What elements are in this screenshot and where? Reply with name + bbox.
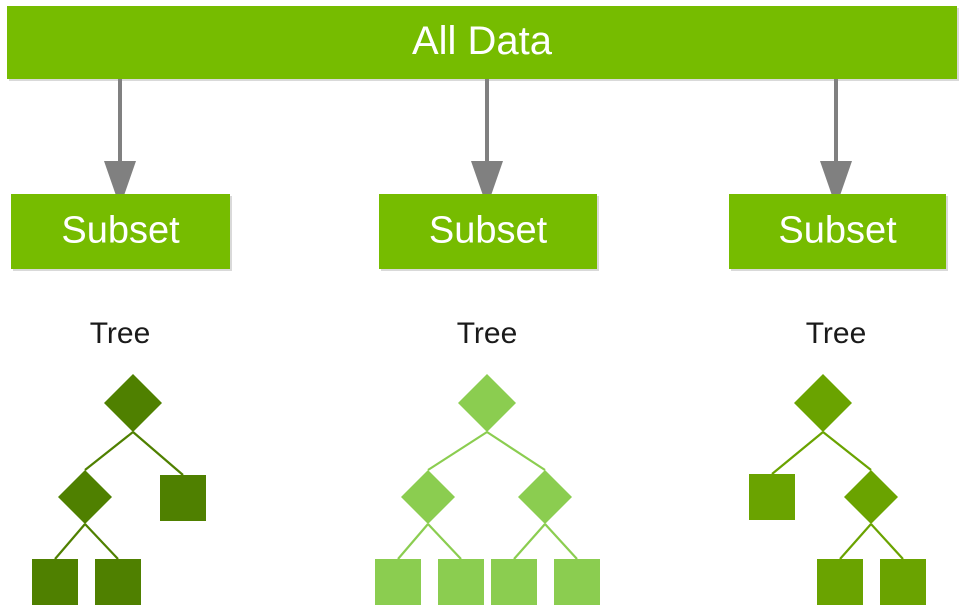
tree-1-nodes <box>32 374 206 605</box>
tree-2 <box>375 374 600 605</box>
tree-1-node-square[interactable] <box>95 559 141 605</box>
tree-2-node-square[interactable] <box>554 559 600 605</box>
tree-2-edge <box>545 524 577 559</box>
tree-1 <box>32 374 206 605</box>
arrow-to-subset-3-shaft <box>834 79 838 163</box>
tree-2-edge <box>428 524 461 559</box>
arrow-to-subset-2-shaft <box>485 79 489 163</box>
all-data-label: All Data <box>412 19 553 63</box>
all-data-group: All Data <box>7 6 959 81</box>
subset-label-3: Subset <box>778 210 897 252</box>
tree-2-edge <box>428 432 487 470</box>
tree-3-node-square[interactable] <box>817 559 863 605</box>
tree-1-edge <box>133 432 183 475</box>
tree-3 <box>749 374 926 605</box>
tree-3-node-square[interactable] <box>880 559 926 605</box>
tree-1-edge <box>55 524 85 559</box>
tree-3-node-diamond[interactable] <box>844 470 898 524</box>
tree-3-edge <box>772 432 823 474</box>
arrow-to-subset-1-shaft <box>118 79 122 163</box>
trees-group <box>32 374 926 605</box>
tree-1-node-square[interactable] <box>160 475 206 521</box>
tree-label-3: Tree <box>806 317 867 350</box>
tree-2-edge <box>398 524 428 559</box>
tree-1-node-diamond[interactable] <box>104 374 162 432</box>
tree-2-node-diamond[interactable] <box>458 374 516 432</box>
tree-1-edge <box>85 432 133 470</box>
tree-3-node-square[interactable] <box>749 474 795 520</box>
diagram-canvas: All Data SubsetSubsetSubset TreeTreeTree <box>0 0 965 605</box>
subset-label-2: Subset <box>429 210 548 252</box>
tree-3-node-diamond[interactable] <box>794 374 852 432</box>
tree-labels-group: TreeTreeTree <box>90 317 867 350</box>
tree-2-edge <box>487 432 545 470</box>
tree-2-nodes <box>375 374 600 605</box>
subset-label-1: Subset <box>61 210 180 252</box>
tree-2-node-square[interactable] <box>491 559 537 605</box>
arrows-group <box>104 79 852 207</box>
tree-2-node-square[interactable] <box>375 559 421 605</box>
tree-2-edge <box>514 524 545 559</box>
tree-2-node-diamond[interactable] <box>401 470 455 524</box>
tree-2-node-square[interactable] <box>438 559 484 605</box>
tree-2-node-diamond[interactable] <box>518 470 572 524</box>
tree-1-node-diamond[interactable] <box>58 470 112 524</box>
tree-1-node-square[interactable] <box>32 559 78 605</box>
tree-3-edge <box>840 524 871 559</box>
tree-label-2: Tree <box>457 317 518 350</box>
tree-label-1: Tree <box>90 317 151 350</box>
tree-1-edge <box>85 524 118 559</box>
subsets-group: SubsetSubsetSubset <box>11 194 948 271</box>
tree-3-edge <box>823 432 871 470</box>
tree-3-nodes <box>749 374 926 605</box>
random-forest-diagram: All Data SubsetSubsetSubset TreeTreeTree <box>0 0 965 605</box>
tree-3-edge <box>871 524 903 559</box>
